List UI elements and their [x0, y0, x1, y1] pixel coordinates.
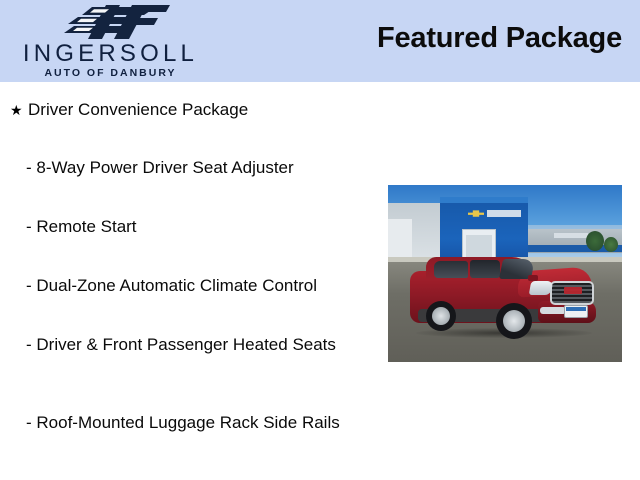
header-band: INGERSOLL AUTO OF DANBURY Featured Packa…: [0, 0, 640, 82]
list-item: - 8-Way Power Driver Seat Adjuster: [26, 157, 366, 178]
vehicle-front-rim: [503, 310, 525, 332]
photo-tree: [586, 231, 604, 251]
vehicle-photo: [388, 185, 622, 362]
list-item: - Dual-Zone Automatic Climate Control: [26, 275, 366, 296]
list-item: - Driver & Front Passenger Heated Seats: [26, 334, 366, 355]
brand-tagline: AUTO OF DANBURY: [8, 68, 213, 79]
vehicle-license-plate-band: [566, 307, 586, 311]
photo-dealership-facade-top: [440, 197, 528, 203]
star-bullet-icon: ★: [10, 100, 28, 120]
chevrolet-sign-text: [487, 210, 521, 217]
photo-tree: [604, 237, 618, 252]
photo-right-wing-sign-text: [554, 233, 588, 238]
vehicle-headlight: [529, 281, 553, 295]
vehicle-lower-trim: [540, 307, 566, 314]
feature-heading-label: Driver Convenience Package: [28, 100, 248, 120]
brand-logo-block: INGERSOLL AUTO OF DANBURY: [8, 2, 218, 80]
vehicle-rear-window: [434, 261, 468, 278]
list-item: - Roof-Mounted Luggage Rack Side Rails: [26, 412, 366, 433]
vehicle-rear-rim: [432, 307, 450, 325]
ingersoll-winged-emblem-icon: [48, 4, 174, 40]
feature-heading-row: ★ Driver Convenience Package: [10, 100, 370, 120]
gmc-badge-icon: [564, 287, 582, 294]
vehicle-side-window: [470, 260, 500, 278]
page-title: Featured Package: [377, 22, 622, 55]
list-item: - Remote Start: [26, 216, 366, 237]
brand-name: INGERSOLL: [8, 42, 213, 66]
